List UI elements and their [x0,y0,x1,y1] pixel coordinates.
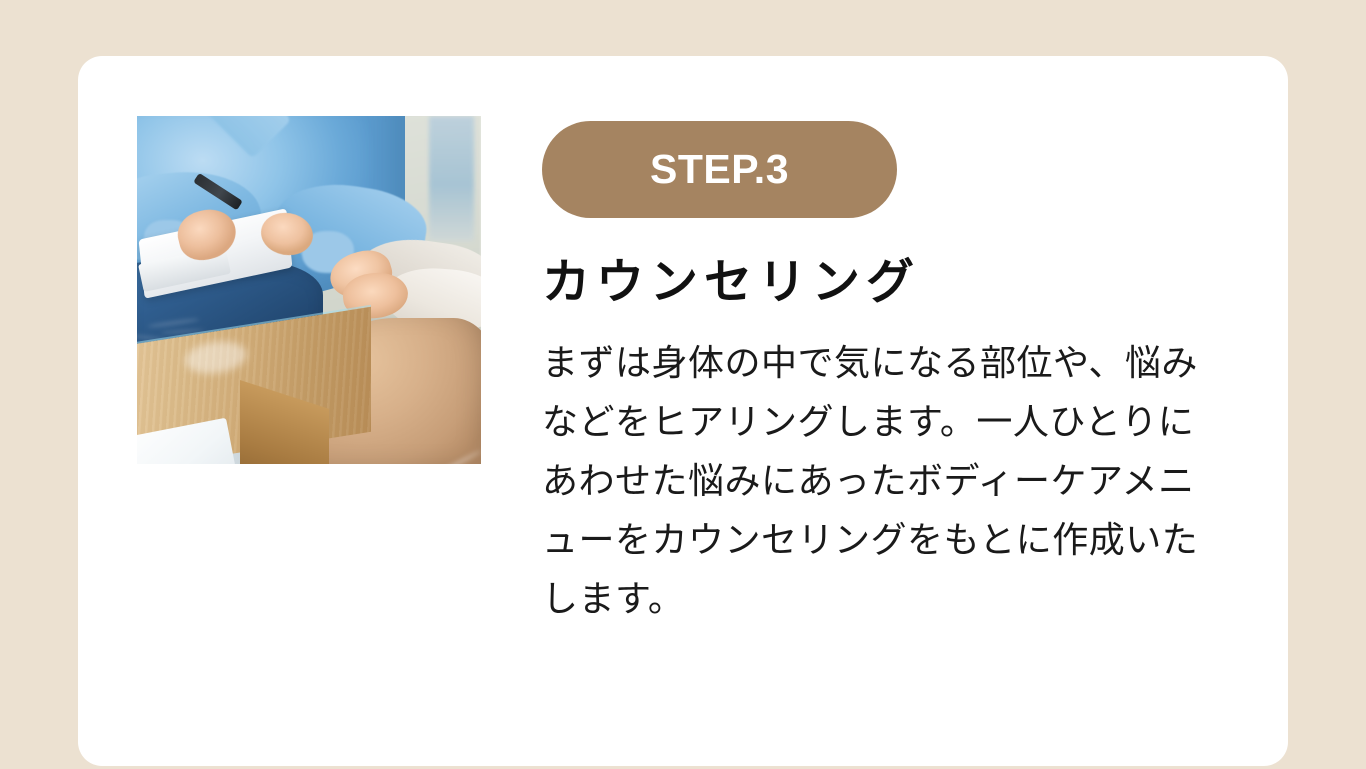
page-root: STEP.3 カウンセリング まずは身体の中で気になる部位や、悩みなどをヒアリン… [0,0,1366,769]
photo-sweater-vneck [196,116,292,158]
photo-window [429,116,474,241]
photo-trousers-crease [412,449,481,464]
photo-jeans-fold [148,318,199,329]
page-title: カウンセリング [542,218,1242,312]
status-badge: STEP.3 [542,121,897,218]
step-content: STEP.3 カウンセリング まずは身体の中で気になる部位や、悩みなどをヒアリン… [542,121,1242,629]
counseling-session-photo [137,116,481,464]
status-badge-label: STEP.3 [650,149,789,190]
step-card: STEP.3 カウンセリング まずは身体の中で気になる部位や、悩みなどをヒアリン… [78,56,1288,766]
step-description: まずは身体の中で気になる部位や、悩みなどをヒアリングします。一人ひとりにあわせた… [542,312,1210,629]
photo-canvas [137,116,481,464]
